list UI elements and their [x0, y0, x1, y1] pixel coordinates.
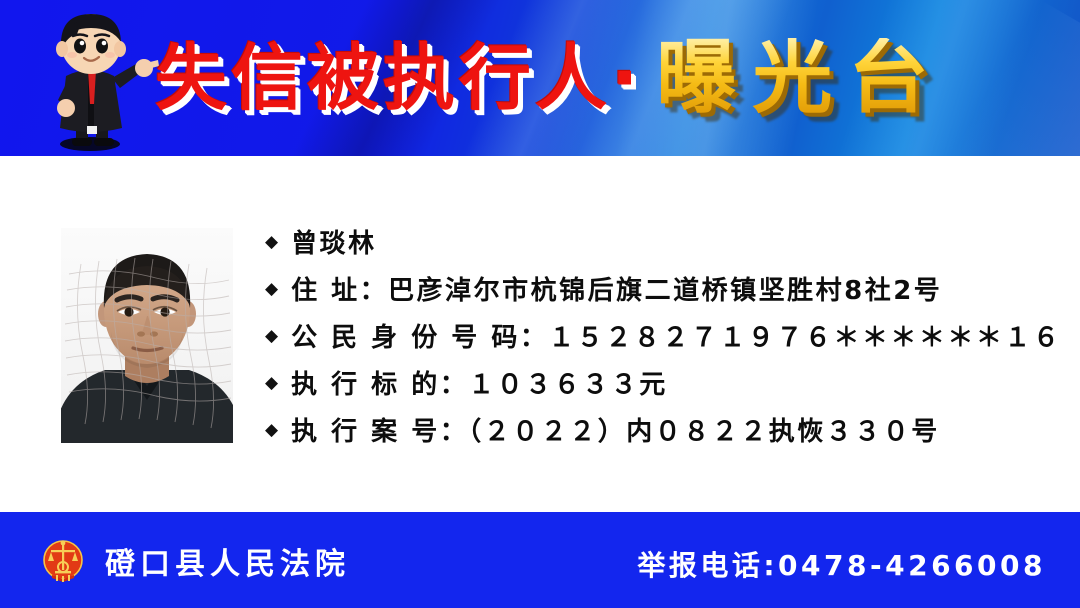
info-row-case-number: ◆ 执 行 案 号：（２０２２）内０８２２执恢３３０号: [265, 406, 1025, 453]
banner-title-gold: 曝光台: [656, 38, 944, 118]
court-name: 磴口县人民法院: [105, 539, 350, 583]
court-emblem-icon: [38, 536, 88, 586]
header-banner: 失信被执行人· 曝光台: [0, 0, 1080, 156]
debtor-address: 住 址：巴彦淖尔市杭锦后旗二道桥镇坚胜村8社2号: [291, 270, 942, 307]
debtor-id-number: 公 民 身 份 号 码：１５２８２７１９７６＊＊＊＊＊＊１６: [291, 317, 1061, 354]
banner-title-red: 失信被执行人·: [155, 42, 642, 114]
info-row-amount: ◆ 执 行 标 的：１０３６３３元: [265, 359, 1025, 406]
footer-bar: 磴口县人民法院 举报电话:0478-4266008: [0, 512, 1080, 608]
debtor-name: 曾琰林: [291, 223, 377, 260]
info-row-address: ◆ 住 址：巴彦淖尔市杭锦后旗二道桥镇坚胜村8社2号: [265, 265, 1025, 312]
diamond-bullet-icon: ◆: [265, 375, 278, 392]
report-hotline: 举报电话:0478-4266008: [637, 544, 1046, 584]
content-area: ◆ 曾琰林 ◆ 住 址：巴彦淖尔市杭锦后旗二道桥镇坚胜村8社2号 ◆ 公 民 身…: [0, 156, 1080, 512]
diamond-bullet-icon: ◆: [265, 328, 278, 345]
judge-mascot-icon: [32, 8, 162, 152]
poster-root: 失信被执行人· 曝光台: [0, 0, 1080, 608]
info-row-name: ◆ 曾琰林: [265, 218, 1025, 265]
debtor-case-number: 执 行 案 号：（２０２２）内０８２２执恢３３０号: [291, 411, 940, 448]
id-photo: [61, 228, 233, 443]
diamond-bullet-icon: ◆: [265, 281, 278, 298]
banner-title: 失信被执行人· 曝光台: [155, 18, 944, 138]
debtor-info-list: ◆ 曾琰林 ◆ 住 址：巴彦淖尔市杭锦后旗二道桥镇坚胜村8社2号 ◆ 公 民 身…: [265, 218, 1025, 453]
court-identity: 磴口县人民法院: [38, 536, 350, 586]
diamond-bullet-icon: ◆: [265, 234, 278, 251]
info-row-id-number: ◆ 公 民 身 份 号 码：１５２８２７１９７６＊＊＊＊＊＊１６: [265, 312, 1025, 359]
debtor-amount: 执 行 标 的：１０３６３３元: [291, 364, 668, 401]
diamond-bullet-icon: ◆: [265, 422, 278, 439]
